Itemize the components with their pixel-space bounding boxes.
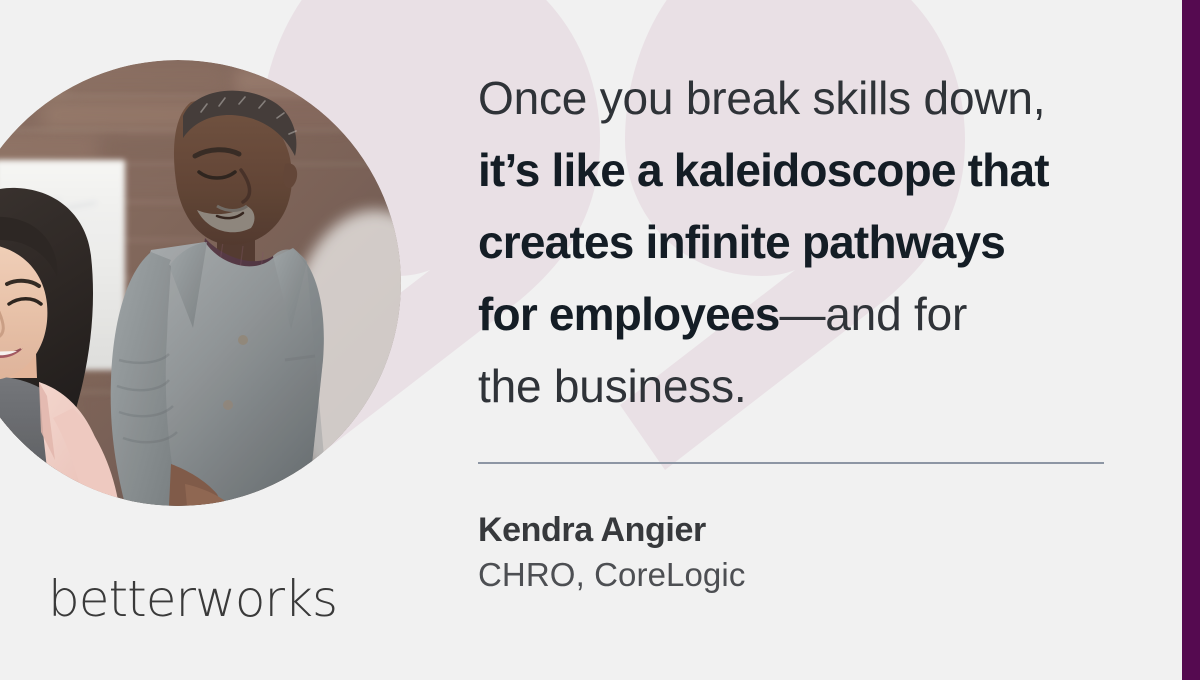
quote-line-3-text: creates infinite pathways xyxy=(478,216,1005,268)
speaker-photo xyxy=(0,60,401,506)
betterworks-logo: betterworks betterworks xyxy=(48,568,378,630)
quote-line-4-tail: —and for xyxy=(780,288,968,340)
quote-line-5: the business. xyxy=(478,350,1138,422)
author-name: Kendra Angier xyxy=(478,508,1138,552)
logo-wordmark-text: betterworks xyxy=(48,568,378,630)
quote-line-1-text: Once you break skills down, xyxy=(478,72,1045,124)
attribution-block: Kendra Angier CHRO, CoreLogic xyxy=(478,508,1138,598)
quote-line-1: Once you break skills down, xyxy=(478,62,1138,134)
brand-accent-bar xyxy=(1182,0,1200,680)
attribution-divider xyxy=(478,462,1104,464)
quote-line-4-emphasis: for employees xyxy=(478,288,780,340)
author-role: CHRO, CoreLogic xyxy=(478,552,1138,598)
quote-line-3: creates infinite pathways xyxy=(478,206,1138,278)
quote-line-2: it’s like a kaleidoscope that xyxy=(478,134,1138,206)
quote-card: Once you break skills down, it’s like a … xyxy=(0,0,1200,680)
quote-line-4: for employees—and for xyxy=(478,278,1138,350)
quote-text: Once you break skills down, it’s like a … xyxy=(478,62,1138,422)
quote-line-5-text: the business. xyxy=(478,360,746,412)
quote-line-2-text: it’s like a kaleidoscope that xyxy=(478,144,1049,196)
